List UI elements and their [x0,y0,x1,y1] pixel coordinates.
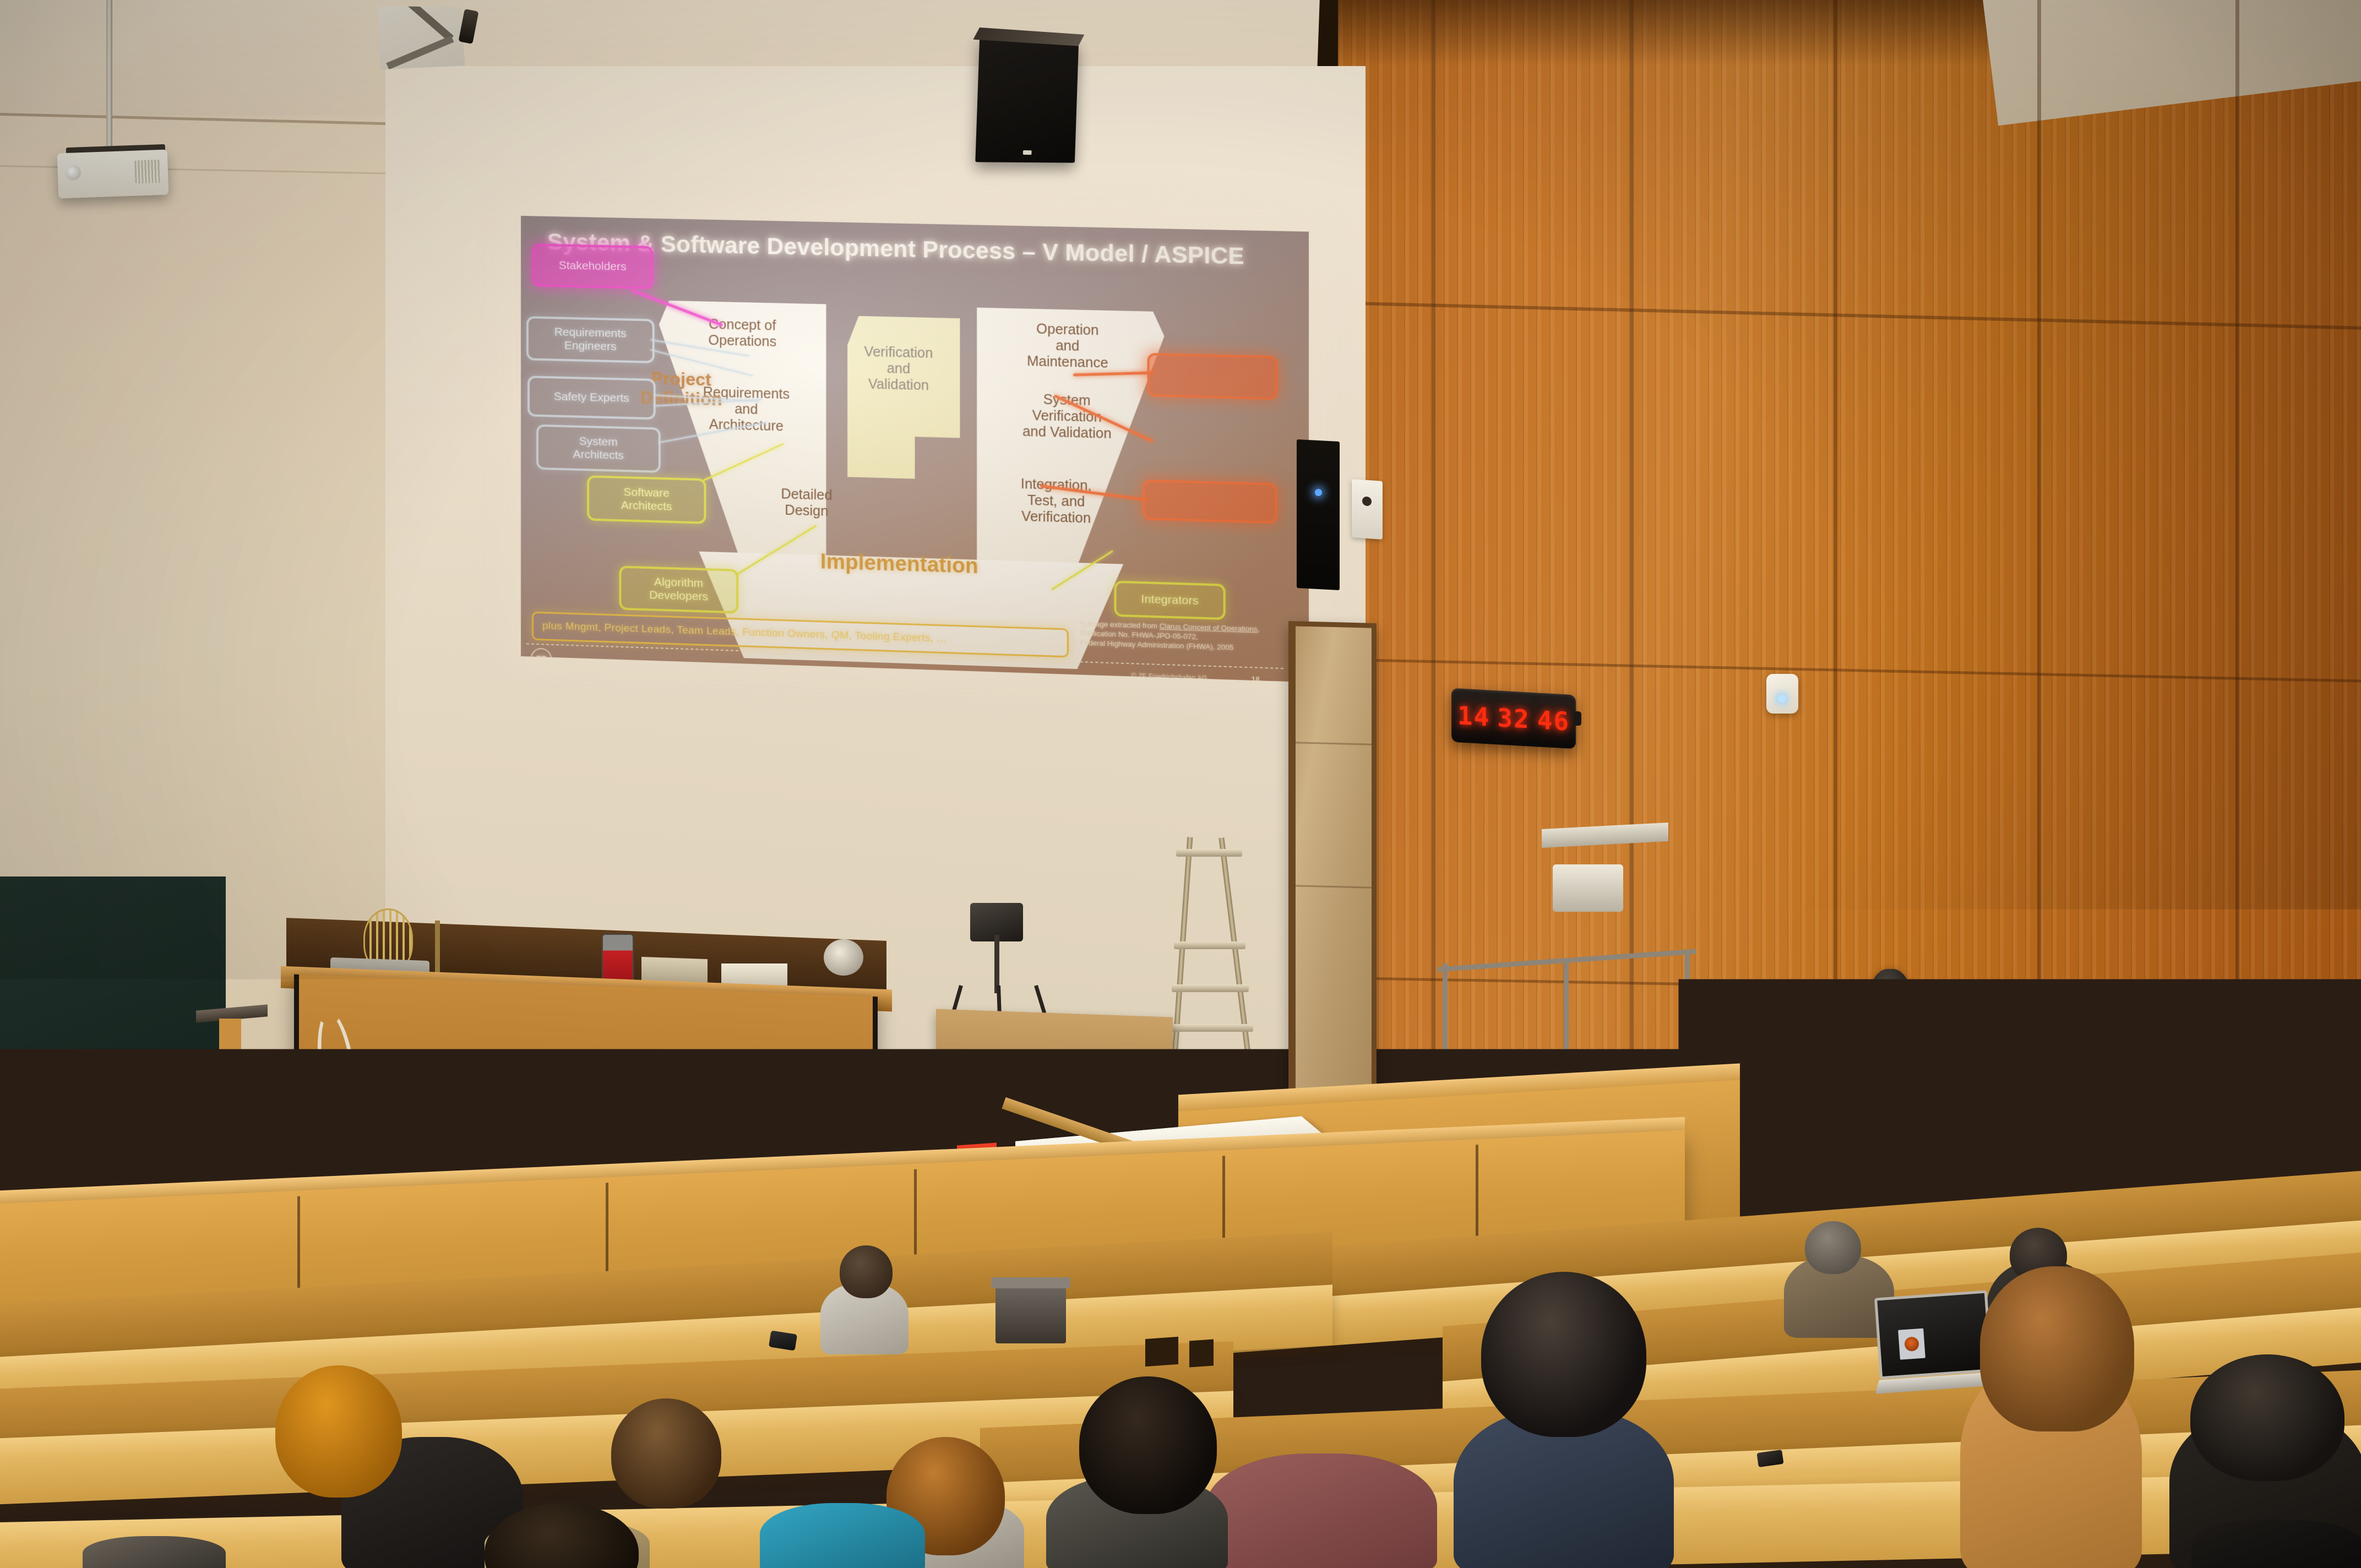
audience-member-head-curly [1980,1266,2134,1431]
ceiling-speaker [975,35,1079,162]
clock-hours: 14 [1457,700,1490,732]
role-label-system-architects: System Architects [573,435,624,462]
role-label-stakeholders: Stakeholders [559,259,627,274]
wall-outlet-plate[interactable] [1352,479,1383,540]
bin-lid [991,1277,1070,1288]
role-label-integrators: Integrators [1141,593,1198,608]
wall-speaker [1297,439,1340,590]
wood-seam [2235,0,2239,1211]
ladder-rung [1171,1024,1253,1032]
row-gap [1189,1339,1214,1367]
step-ladder [1166,837,1265,1107]
panel-seam [1296,885,1372,888]
projected-slide: System & Software Development Process – … [521,216,1309,682]
speaker-led-icon [1023,150,1032,155]
audience-member-body [2191,1520,2361,1568]
wood-seam [1834,0,1837,1244]
wall-speaker-led-icon [1315,489,1322,496]
role-box-safety-experts[interactable]: Safety Experts [527,375,656,420]
rig-equipment-box [1553,864,1623,912]
role-box-integrators[interactable]: Integrators [1114,581,1225,620]
row-gap [1145,1337,1178,1366]
panel-seam [1296,742,1372,745]
clock-side-nub [1574,711,1581,726]
role-box-algorithm-developers[interactable]: Algorithm Developers [619,565,738,613]
stand-crossbar [600,1113,666,1117]
ladder-rung [1172,984,1249,992]
audience-member-head [1805,1221,1861,1274]
audience-member-head [2190,1354,2344,1481]
role-box-requirements-engineers[interactable]: Requirements Engineers [526,316,655,363]
stage-integration-test-verification: Integration, Test, and Verification [988,475,1124,527]
lecture-hall-scene: System & Software Development Process – … [0,0,2361,1568]
bronze-bust [1868,969,1913,1034]
audience-member-head [840,1245,893,1298]
ladder-rail [1169,837,1193,1096]
citation-part-3: Federal Highway Administration (FHWA), 2… [1080,639,1233,652]
projector-vent [134,160,160,184]
ladder-top-step [1176,849,1242,857]
role-label-algorithm-developers: Algorithm Developers [649,576,708,604]
ladder-rail [1218,837,1255,1095]
verification-validation-band [847,316,960,480]
framed-panel [1288,621,1377,1097]
audience-member-head-yellow [275,1365,402,1498]
audience-member-head [1481,1272,1646,1437]
bracket-arm-secondary [386,35,454,69]
projector-mount-pole [106,0,112,155]
stool-post [219,1019,241,1068]
role-box-orange-lower[interactable] [1143,480,1277,524]
apparatus-round-dish [824,939,863,976]
clock-minutes: 32 [1497,703,1530,734]
role-box-stakeholders[interactable]: Stakeholders [532,243,654,289]
waste-bin [995,1284,1066,1343]
stool-leg [259,1074,279,1184]
ladder-rung [1174,941,1245,949]
motion-sensor [1766,674,1798,714]
role-box-system-architects[interactable]: System Architects [536,424,661,473]
digital-wall-clock: 14 32 46 [1451,688,1576,749]
role-label-software-architects: Software Architects [621,486,672,514]
stage-system-verification-and-validation: System Verification and Validation [996,390,1138,443]
role-box-software-architects[interactable]: Software Architects [587,475,706,524]
audience-member-body [83,1536,226,1568]
sensor-led-icon [1778,695,1786,703]
clock-seconds: 46 [1537,705,1570,736]
role-label-requirements-engineers: Requirements Engineers [554,326,627,353]
presenter-head [1694,1008,1737,1055]
laptop-app-icon [1898,1329,1925,1360]
side-table [936,1009,1173,1116]
stage-operation-and-maintenance: Operation and Maintenance [999,320,1136,372]
stage-verification-and-validation: Verification and Validation [845,344,952,395]
audience-member-head [1239,1321,1404,1487]
orange-circle-icon [1904,1336,1919,1352]
laptop-screen [1874,1290,1993,1379]
projector-lens-icon [65,165,81,181]
stage-detailed-design: Detailed Design [748,485,865,521]
slide-footer-note: plus Mngmt, Project Leads, Team Leads, F… [542,620,946,645]
role-box-orange-upper[interactable] [1147,353,1278,400]
wood-seam [2037,0,2041,1222]
slide-citation: *) Image extracted from Clarus Concept o… [1080,619,1274,654]
outlet-socket-icon [1362,496,1372,506]
role-label-safety-experts: Safety Experts [554,390,629,405]
tripod-center-pole [994,935,999,993]
ceiling-projector [57,150,169,199]
slide-title: System & Software Development Process – … [547,228,1279,270]
audience-member-head [1079,1376,1217,1514]
audience-member-body [760,1503,925,1568]
audience-member-head [611,1398,721,1509]
citation-part-1: *) Image extracted from [1080,619,1159,630]
